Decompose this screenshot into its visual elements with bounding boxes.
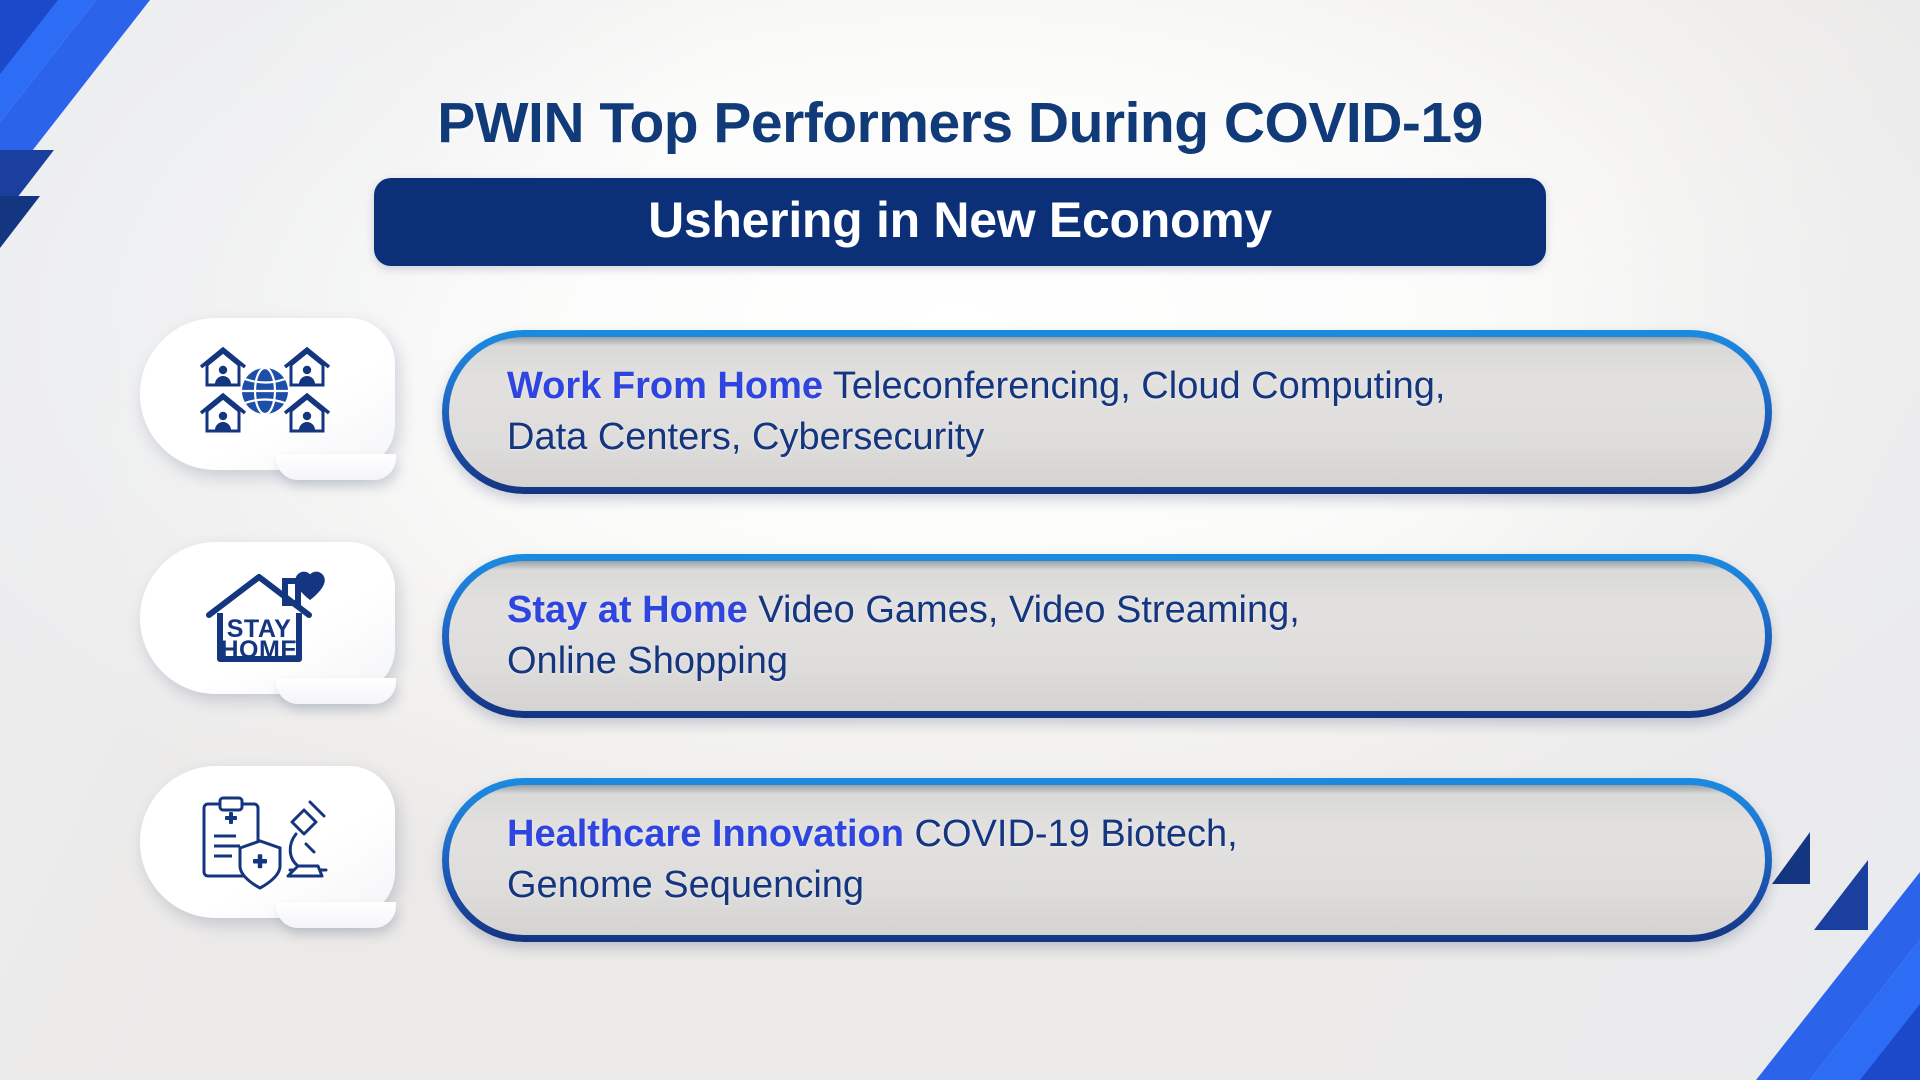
pill-stay-at-home: Stay at Home Video Games, Video Streamin… [442, 554, 1772, 718]
work-from-home-globe-icon [193, 339, 343, 450]
svg-text:HOME: HOME [220, 636, 297, 664]
content-rows: Work From Home Teleconferencing, Cloud C… [0, 318, 1920, 990]
pill-line-2: Data Centers, Cybersecurity [507, 412, 1725, 463]
subtitle-banner: Ushering in New Economy [374, 178, 1546, 266]
icon-card-work-from-home [140, 318, 395, 470]
pill-healthcare: Healthcare Innovation COVID-19 Biotech, … [442, 778, 1772, 942]
page-title: PWIN Top Performers During COVID-19 [0, 90, 1920, 156]
subtitle-text: Ushering in New Economy [374, 191, 1546, 249]
pill-border: Healthcare Innovation COVID-19 Biotech, … [442, 778, 1772, 942]
pill-lead-label: Stay at Home [507, 589, 748, 631]
pill-border: Stay at Home Video Games, Video Streamin… [442, 554, 1772, 718]
pill-line-2: Genome Sequencing [507, 860, 1725, 911]
pill-line-1: Healthcare Innovation COVID-19 Biotech, [507, 809, 1725, 860]
pill-line-1-rest: Teleconferencing, Cloud Computing, [823, 365, 1445, 407]
content-row: Work From Home Teleconferencing, Cloud C… [0, 318, 1920, 494]
icon-card-stay-home: STAY HOME [140, 542, 395, 694]
pill-line-1-rest: COVID-19 Biotech, [904, 813, 1238, 855]
pill-content: Work From Home Teleconferencing, Cloud C… [449, 337, 1765, 487]
pill-lead-label: Work From Home [507, 365, 823, 407]
pill-content: Stay at Home Video Games, Video Streamin… [449, 561, 1765, 711]
pill-line-1: Stay at Home Video Games, Video Streamin… [507, 585, 1725, 636]
header: PWIN Top Performers During COVID-19 Ushe… [0, 0, 1920, 266]
content-row: Healthcare Innovation COVID-19 Biotech, … [0, 766, 1920, 942]
pill-lead-label: Healthcare Innovation [507, 813, 904, 855]
stay-home-house-heart-icon: STAY HOME [193, 563, 343, 674]
pill-border: Work From Home Teleconferencing, Cloud C… [442, 330, 1772, 494]
healthcare-clipboard-microscope-icon [192, 786, 344, 899]
icon-card-healthcare [140, 766, 395, 918]
content-row: STAY HOME Stay at Home Video Games, Vide… [0, 542, 1920, 718]
pill-line-1: Work From Home Teleconferencing, Cloud C… [507, 361, 1725, 412]
pill-work-from-home: Work From Home Teleconferencing, Cloud C… [442, 330, 1772, 494]
pill-line-2: Online Shopping [507, 636, 1725, 687]
pill-content: Healthcare Innovation COVID-19 Biotech, … [449, 785, 1765, 935]
pill-line-1-rest: Video Games, Video Streaming, [748, 589, 1300, 631]
